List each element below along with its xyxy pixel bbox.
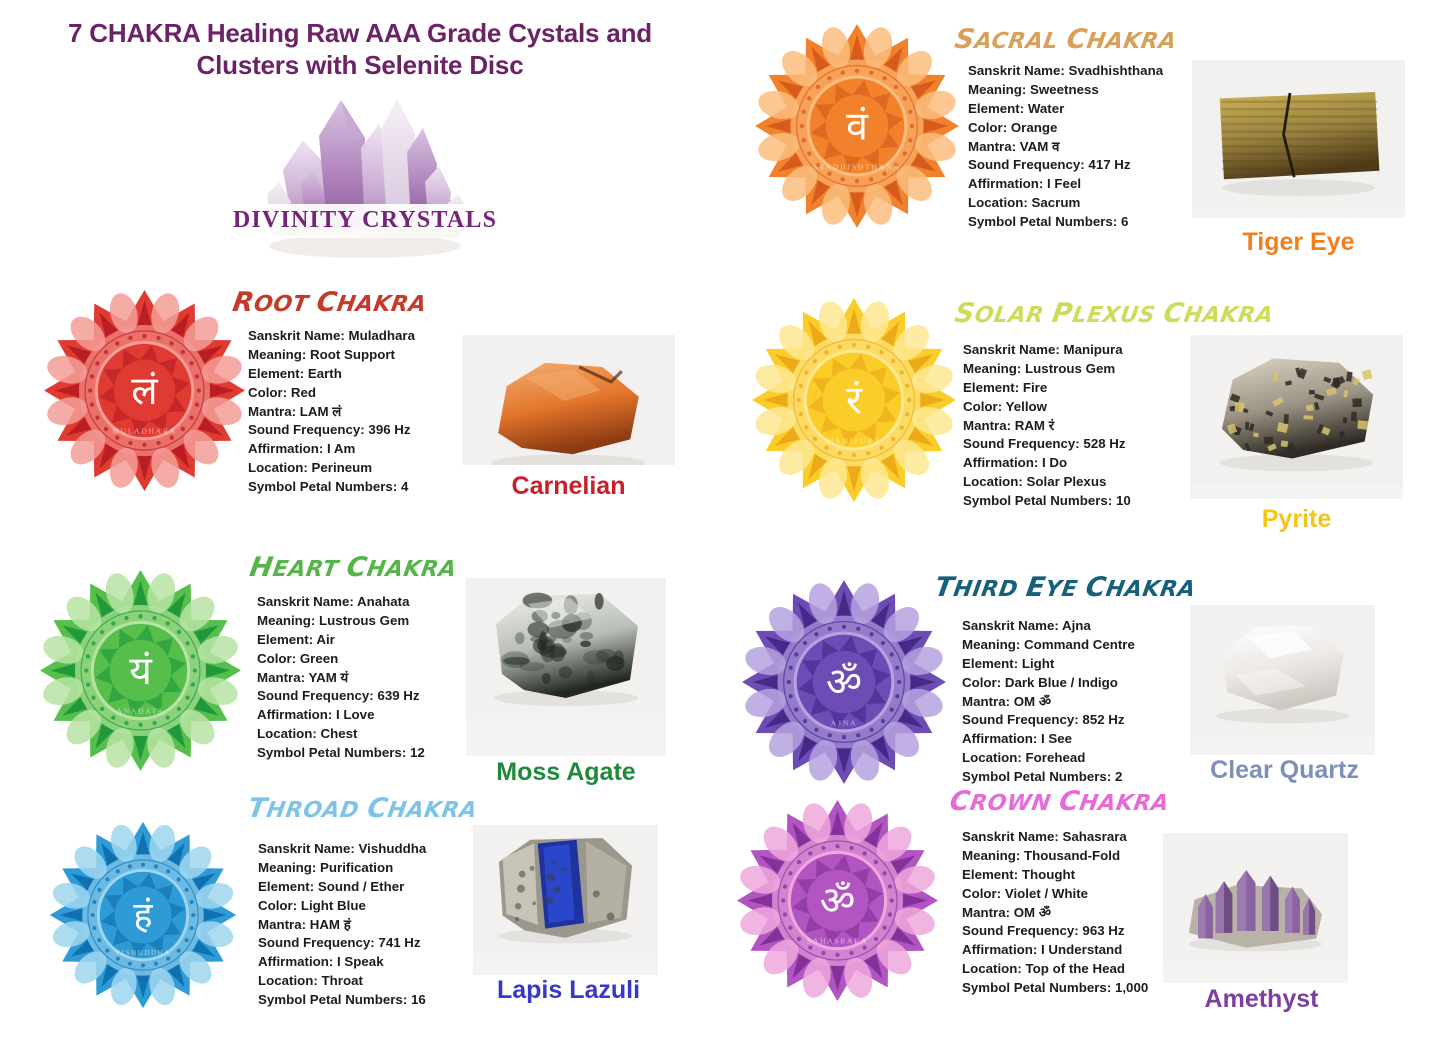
moss-agate-photo bbox=[466, 578, 666, 718]
fact-symbol_petal_numbers: Symbol Petal Numbers: 6 bbox=[968, 213, 1163, 232]
fact-mantra: Mantra: OM ॐ bbox=[962, 693, 1135, 712]
fact-sound_frequency: Sound Frequency: 639 Hz bbox=[257, 687, 425, 706]
mandala-ring-text: MULADHARA bbox=[112, 427, 177, 436]
chakra-heading-sacral: SACRAL CHAKRA bbox=[953, 24, 1180, 55]
fact-symbol_petal_numbers: Symbol Petal Numbers: 16 bbox=[258, 991, 426, 1010]
brand-wordmark: DIVINITY CRYSTALS bbox=[215, 204, 515, 238]
fact-element: Element: Fire bbox=[963, 379, 1131, 398]
fact-affirmation: Affirmation: I Speak bbox=[258, 953, 426, 972]
pyrite-photo bbox=[1190, 335, 1403, 499]
mandala-root: लंMULADHARA bbox=[42, 288, 247, 498]
amethyst-cluster-photo bbox=[215, 78, 515, 268]
bija-glyph: हं bbox=[133, 894, 153, 936]
chakra-heading-solar-plexus: SOLAR PLEXUS CHAKRA bbox=[953, 298, 1277, 329]
fact-location: Location: Throat bbox=[258, 972, 426, 991]
fact-affirmation: Affirmation: I Feel bbox=[968, 175, 1163, 194]
fact-symbol_petal_numbers: Symbol Petal Numbers: 1,000 bbox=[962, 979, 1148, 998]
clear-quartz-photo bbox=[1190, 605, 1375, 755]
fact-sound_frequency: Sound Frequency: 741 Hz bbox=[258, 934, 426, 953]
moss-agate-photo bbox=[466, 578, 666, 756]
fact-sanskrit_name: Sanskrit Name: Anahata bbox=[257, 593, 425, 612]
lapis-lazuli-photo bbox=[473, 825, 658, 975]
mandala-ring-text: MANIPURA bbox=[827, 437, 882, 446]
fact-color: Color: Red bbox=[248, 384, 415, 403]
fact-affirmation: Affirmation: I Understand bbox=[962, 941, 1148, 960]
chakra-facts-sacral: Sanskrit Name: SvadhishthanaMeaning: Swe… bbox=[968, 62, 1163, 232]
fact-sanskrit_name: Sanskrit Name: Muladhara bbox=[248, 327, 415, 346]
chakra-facts-root: Sanskrit Name: MuladharaMeaning: Root Su… bbox=[248, 327, 415, 497]
mandala-ring-text: VISHUDDHA bbox=[115, 949, 171, 957]
mandala-solar-plexus: रंMANIPURA bbox=[750, 296, 958, 509]
fact-color: Color: Yellow bbox=[963, 398, 1131, 417]
bija-glyph: वं bbox=[846, 104, 869, 150]
fact-sanskrit_name: Sanskrit Name: Vishuddha bbox=[258, 840, 426, 859]
fact-meaning: Meaning: Thousand-Fold bbox=[962, 847, 1148, 866]
mandala-symbol-solar-plexus: रंMANIPURA bbox=[750, 296, 958, 504]
fact-symbol_petal_numbers: Symbol Petal Numbers: 4 bbox=[248, 478, 415, 497]
mandala-ring-text: SVADHISHTHANA bbox=[813, 163, 900, 172]
fact-sound_frequency: Sound Frequency: 963 Hz bbox=[962, 922, 1148, 941]
chakra-heading-heart: HEART CHAKRA bbox=[248, 552, 460, 583]
lapis-lazuli-photo bbox=[473, 825, 658, 955]
fact-mantra: Mantra: LAM लं bbox=[248, 403, 415, 422]
tiger-eye-photo bbox=[1192, 60, 1405, 209]
fact-element: Element: Thought bbox=[962, 866, 1148, 885]
carnelian-photo bbox=[462, 335, 675, 465]
bija-glyph: रं bbox=[846, 378, 863, 424]
fact-affirmation: Affirmation: I Love bbox=[257, 706, 425, 725]
fact-location: Location: Sacrum bbox=[968, 194, 1163, 213]
fact-mantra: Mantra: YAM यं bbox=[257, 669, 425, 688]
fact-element: Element: Sound / Ether bbox=[258, 878, 426, 897]
fact-meaning: Meaning: Command Centre bbox=[962, 636, 1135, 655]
fact-meaning: Meaning: Sweetness bbox=[968, 81, 1163, 100]
chakra-heading-root: ROOT CHAKRA bbox=[231, 287, 430, 318]
mandala-ring-text: ANAHATA bbox=[117, 707, 165, 716]
mandala-symbol-third-eye: ॐAJNA bbox=[740, 578, 948, 786]
mandala-symbol-root: लंMULADHARA bbox=[42, 288, 247, 493]
fact-meaning: Meaning: Lustrous Gem bbox=[257, 612, 425, 631]
stone-label-solar-plexus: Pyrite bbox=[1190, 505, 1403, 534]
fact-sanskrit_name: Sanskrit Name: Manipura bbox=[963, 341, 1131, 360]
stone-label-sacral: Tiger Eye bbox=[1192, 228, 1405, 257]
fact-symbol_petal_numbers: Symbol Petal Numbers: 10 bbox=[963, 492, 1131, 511]
fact-sound_frequency: Sound Frequency: 528 Hz bbox=[963, 435, 1131, 454]
mandala-sacral: वंSVADHISHTHANA bbox=[753, 22, 961, 235]
fact-location: Location: Chest bbox=[257, 725, 425, 744]
bija-glyph: ॐ bbox=[820, 879, 856, 924]
fact-meaning: Meaning: Lustrous Gem bbox=[963, 360, 1131, 379]
fact-sanskrit_name: Sanskrit Name: Svadhishthana bbox=[968, 62, 1163, 81]
mandala-throat: हंVISHUDDHA bbox=[48, 820, 238, 1015]
fact-mantra: Mantra: OM ॐ bbox=[962, 904, 1148, 923]
fact-color: Color: Green bbox=[257, 650, 425, 669]
mandala-ring-text: SAHASRARA bbox=[807, 937, 868, 946]
amethyst-photo bbox=[1163, 833, 1348, 963]
fact-symbol_petal_numbers: Symbol Petal Numbers: 12 bbox=[257, 744, 425, 763]
fact-location: Location: Solar Plexus bbox=[963, 473, 1131, 492]
amethyst-photo bbox=[1163, 833, 1348, 983]
fact-sanskrit_name: Sanskrit Name: Sahasrara bbox=[962, 828, 1148, 847]
fact-mantra: Mantra: HAM हं bbox=[258, 916, 426, 935]
fact-color: Color: Dark Blue / Indigo bbox=[962, 674, 1135, 693]
fact-location: Location: Perineum bbox=[248, 459, 415, 478]
bija-glyph: यं bbox=[129, 649, 153, 694]
fact-meaning: Meaning: Root Support bbox=[248, 346, 415, 365]
stone-label-throat: Lapis Lazuli bbox=[462, 976, 675, 1005]
fact-sanskrit_name: Sanskrit Name: Ajna bbox=[962, 617, 1135, 636]
stone-label-crown: Amethyst bbox=[1155, 985, 1368, 1014]
mandala-crown: ॐSAHASRARA bbox=[735, 798, 940, 1008]
chakra-facts-throat: Sanskrit Name: VishuddhaMeaning: Purific… bbox=[258, 840, 426, 1010]
fact-mantra: Mantra: RAM रं bbox=[963, 417, 1131, 436]
pyrite-photo bbox=[1190, 335, 1403, 484]
mandala-third-eye: ॐAJNA bbox=[740, 578, 948, 791]
clear-quartz-photo bbox=[1190, 605, 1375, 735]
fact-symbol_petal_numbers: Symbol Petal Numbers: 2 bbox=[962, 768, 1135, 787]
fact-element: Element: Water bbox=[968, 100, 1163, 119]
fact-color: Color: Violet / White bbox=[962, 885, 1148, 904]
fact-mantra: Mantra: VAM व bbox=[968, 138, 1163, 157]
chakra-facts-third-eye: Sanskrit Name: AjnaMeaning: Command Cent… bbox=[962, 617, 1135, 787]
fact-color: Color: Light Blue bbox=[258, 897, 426, 916]
fact-location: Location: Forehead bbox=[962, 749, 1135, 768]
mandala-symbol-heart: यंANAHATA bbox=[38, 568, 243, 773]
fact-affirmation: Affirmation: I Am bbox=[248, 440, 415, 459]
fact-sound_frequency: Sound Frequency: 396 Hz bbox=[248, 421, 415, 440]
chakra-heading-crown: CROWN CHAKRA bbox=[948, 786, 1172, 817]
tiger-eye-photo bbox=[1192, 60, 1405, 218]
chakra-facts-solar-plexus: Sanskrit Name: ManipuraMeaning: Lustrous… bbox=[963, 341, 1131, 511]
fact-meaning: Meaning: Purification bbox=[258, 859, 426, 878]
fact-element: Element: Light bbox=[962, 655, 1135, 674]
stone-label-heart: Moss Agate bbox=[466, 758, 666, 787]
mandala-ring-text: AJNA bbox=[831, 719, 858, 728]
fact-sound_frequency: Sound Frequency: 852 Hz bbox=[962, 711, 1135, 730]
fact-color: Color: Orange bbox=[968, 119, 1163, 138]
fact-location: Location: Top of the Head bbox=[962, 960, 1148, 979]
mandala-symbol-sacral: वंSVADHISHTHANA bbox=[753, 22, 961, 230]
chakra-heading-third-eye: THIRD EYE CHAKRA bbox=[933, 572, 1199, 603]
fact-sound_frequency: Sound Frequency: 417 Hz bbox=[968, 156, 1163, 175]
fact-element: Element: Air bbox=[257, 631, 425, 650]
carnelian-photo bbox=[462, 335, 675, 465]
bija-glyph: लं bbox=[131, 369, 158, 414]
mandala-symbol-crown: ॐSAHASRARA bbox=[735, 798, 940, 1003]
chakra-heading-throat: THROAD CHAKRA bbox=[246, 793, 480, 824]
fact-element: Element: Earth bbox=[248, 365, 415, 384]
mandala-heart: यंANAHATA bbox=[38, 568, 243, 778]
bija-glyph: ॐ bbox=[826, 660, 862, 706]
stone-label-third-eye: Clear Quartz bbox=[1178, 756, 1391, 785]
chakra-facts-crown: Sanskrit Name: SahasraraMeaning: Thousan… bbox=[962, 828, 1148, 998]
stone-label-root: Carnelian bbox=[462, 472, 675, 501]
fact-affirmation: Affirmation: I See bbox=[962, 730, 1135, 749]
mandala-symbol-throat: हंVISHUDDHA bbox=[48, 820, 238, 1010]
brand-logo-block: DIVINITY CRYSTALS bbox=[215, 78, 515, 268]
chakra-facts-heart: Sanskrit Name: AnahataMeaning: Lustrous … bbox=[257, 593, 425, 763]
fact-affirmation: Affirmation: I Do bbox=[963, 454, 1131, 473]
page-title: 7 CHAKRA Healing Raw AAA Grade Cystals a… bbox=[30, 18, 690, 81]
